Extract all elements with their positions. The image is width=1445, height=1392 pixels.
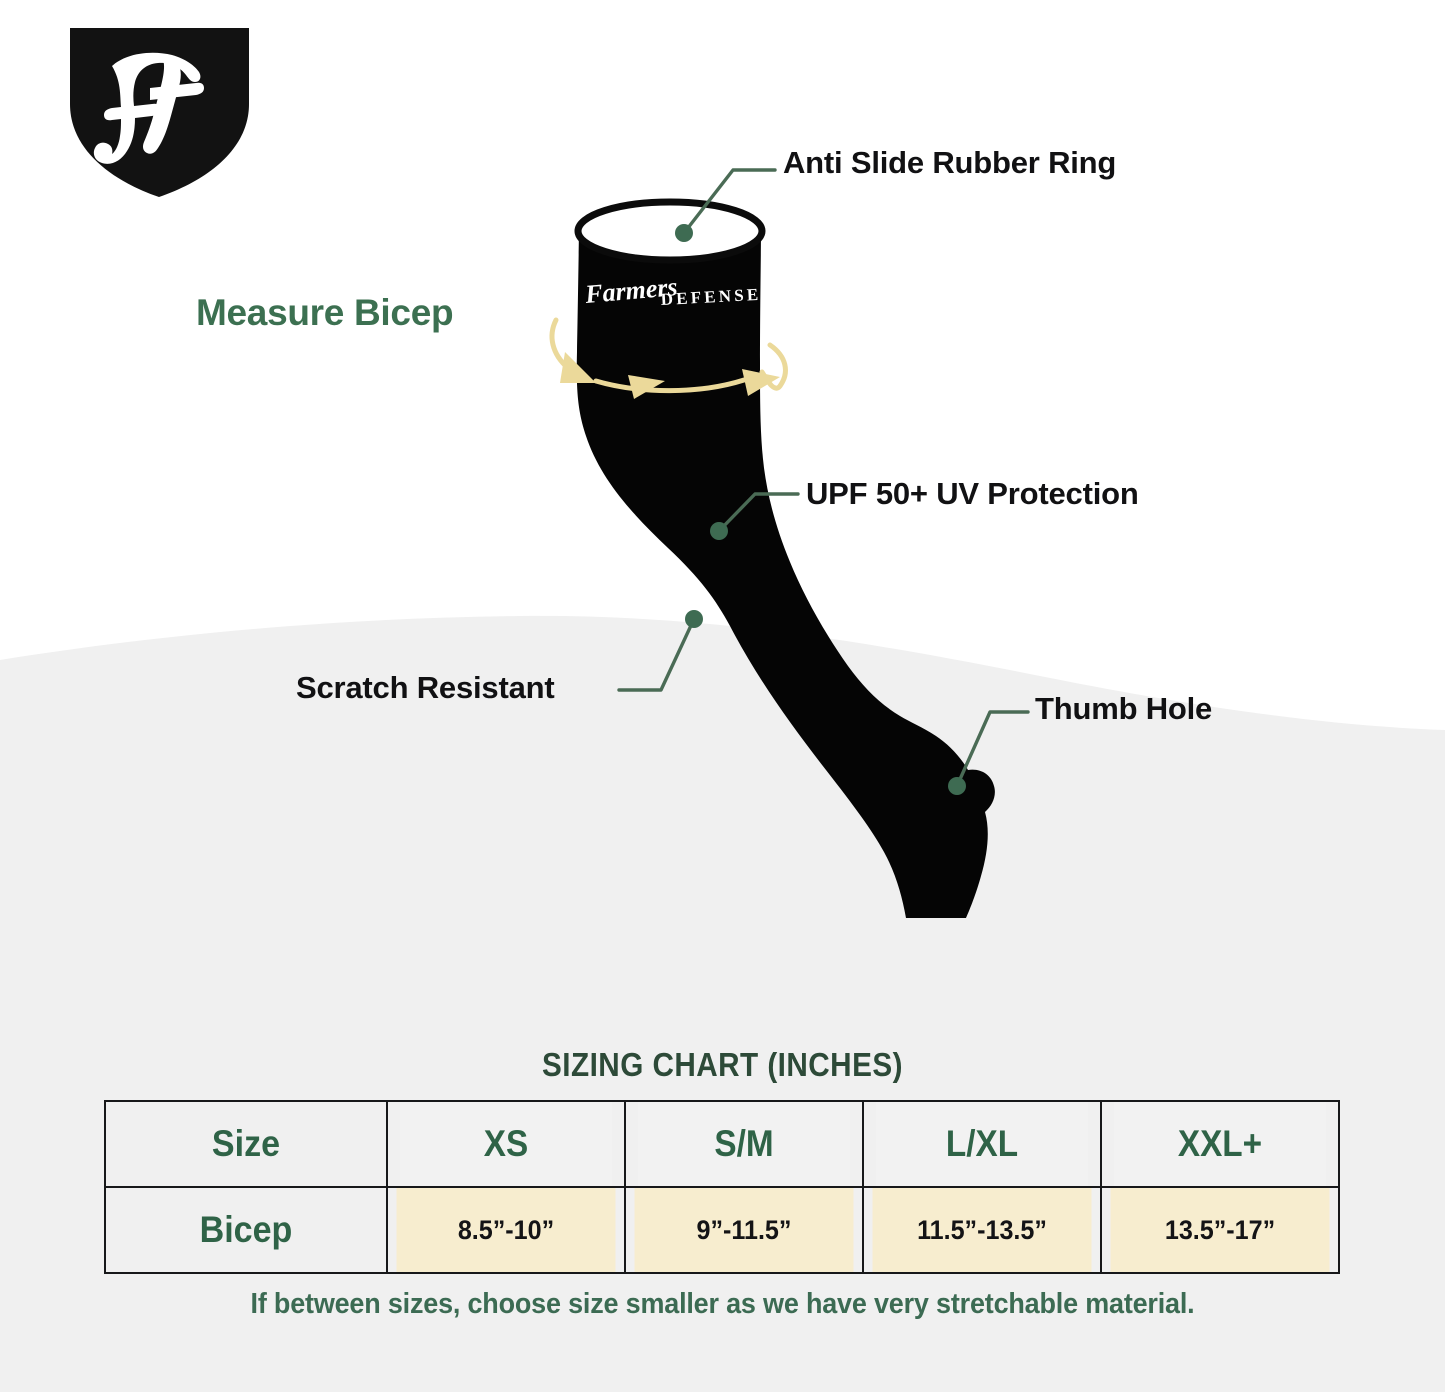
shield-logo-icon xyxy=(62,22,257,205)
callout-label-upf-protection: UPF 50+ UV Protection xyxy=(806,476,1139,512)
table-row-bicep: Bicep 8.5”-10” 9”-11.5” 11.5”-13.5” 13.5… xyxy=(105,1187,1339,1273)
callout-label-thumb-hole: Thumb Hole xyxy=(1035,691,1212,727)
sleeve-graphic: Farmers DEFENSE xyxy=(552,202,995,918)
table-cell-size-xs: XS xyxy=(399,1101,613,1187)
table-cell-bicep-label: Bicep xyxy=(116,1187,375,1273)
table-cell-size-header: Size xyxy=(116,1101,375,1187)
table-cell-bicep-xs: 8.5”-10” xyxy=(395,1187,616,1273)
table-cell-size-xxl: XXL+ xyxy=(1113,1101,1327,1187)
table-cell-size-lxl: L/XL xyxy=(875,1101,1089,1187)
table-cell-bicep-xxl: 13.5”-17” xyxy=(1109,1187,1330,1273)
sizing-chart-title: SIZING CHART (INCHES) xyxy=(72,1046,1373,1084)
measure-bicep-label: Measure Bicep xyxy=(196,292,453,334)
dot-scratch xyxy=(685,610,703,628)
sizing-chart-table: Size XS S/M L/XL XXL+ Bicep 8.5”-10” 9”-… xyxy=(104,1100,1340,1274)
dot-anti-slide xyxy=(675,224,693,242)
infographic-canvas: Farmers DEFENSE Ant xyxy=(0,0,1445,1392)
table-cell-bicep-sm: 9”-11.5” xyxy=(633,1187,854,1273)
table-row-header: Size XS S/M L/XL XXL+ xyxy=(105,1101,1339,1187)
table-cell-bicep-lxl: 11.5”-13.5” xyxy=(871,1187,1092,1273)
table-cell-size-sm: S/M xyxy=(637,1101,851,1187)
dot-thumb xyxy=(948,777,966,795)
dot-upf xyxy=(710,522,728,540)
callout-label-anti-slide-rubber-ring: Anti Slide Rubber Ring xyxy=(783,145,1116,181)
leader-scratch xyxy=(619,619,694,690)
callout-label-scratch-resistant: Scratch Resistant xyxy=(296,670,554,706)
sizing-note: If between sizes, choose size smaller as… xyxy=(51,1288,1395,1321)
band-arrow-right xyxy=(742,369,780,396)
